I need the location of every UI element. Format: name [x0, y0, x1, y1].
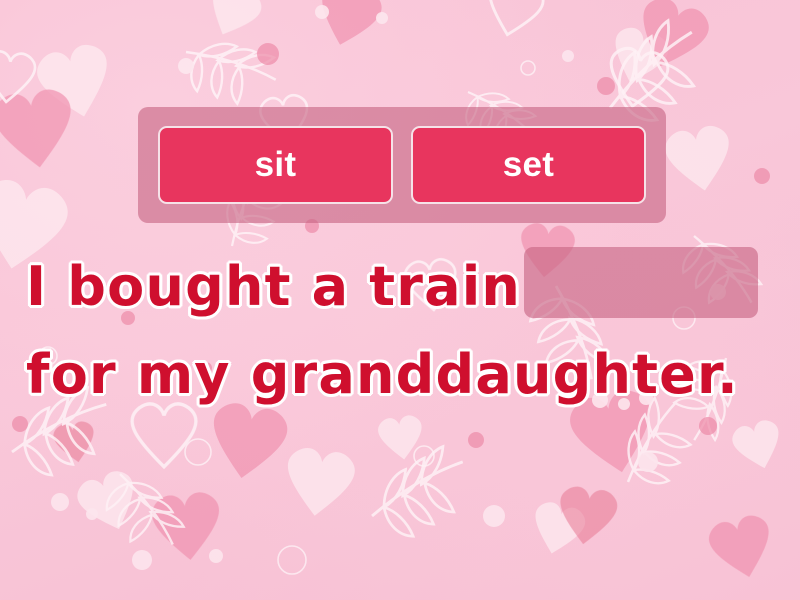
sentence-line-1-text: I bought a train — [26, 255, 521, 318]
word-tile-sit[interactable]: sit — [158, 126, 393, 204]
word-bank-panel: sit set — [138, 107, 666, 223]
word-tile-set[interactable]: set — [411, 126, 646, 204]
sentence-line-2: for my granddaughter. — [26, 326, 739, 422]
sentence-line-1: I bought a train — [26, 238, 521, 334]
sentence-line-2-text: for my granddaughter. — [26, 343, 739, 406]
activity-stage: sit set I bought a train for my granddau… — [0, 0, 800, 600]
answer-drop-slot[interactable] — [524, 247, 758, 318]
